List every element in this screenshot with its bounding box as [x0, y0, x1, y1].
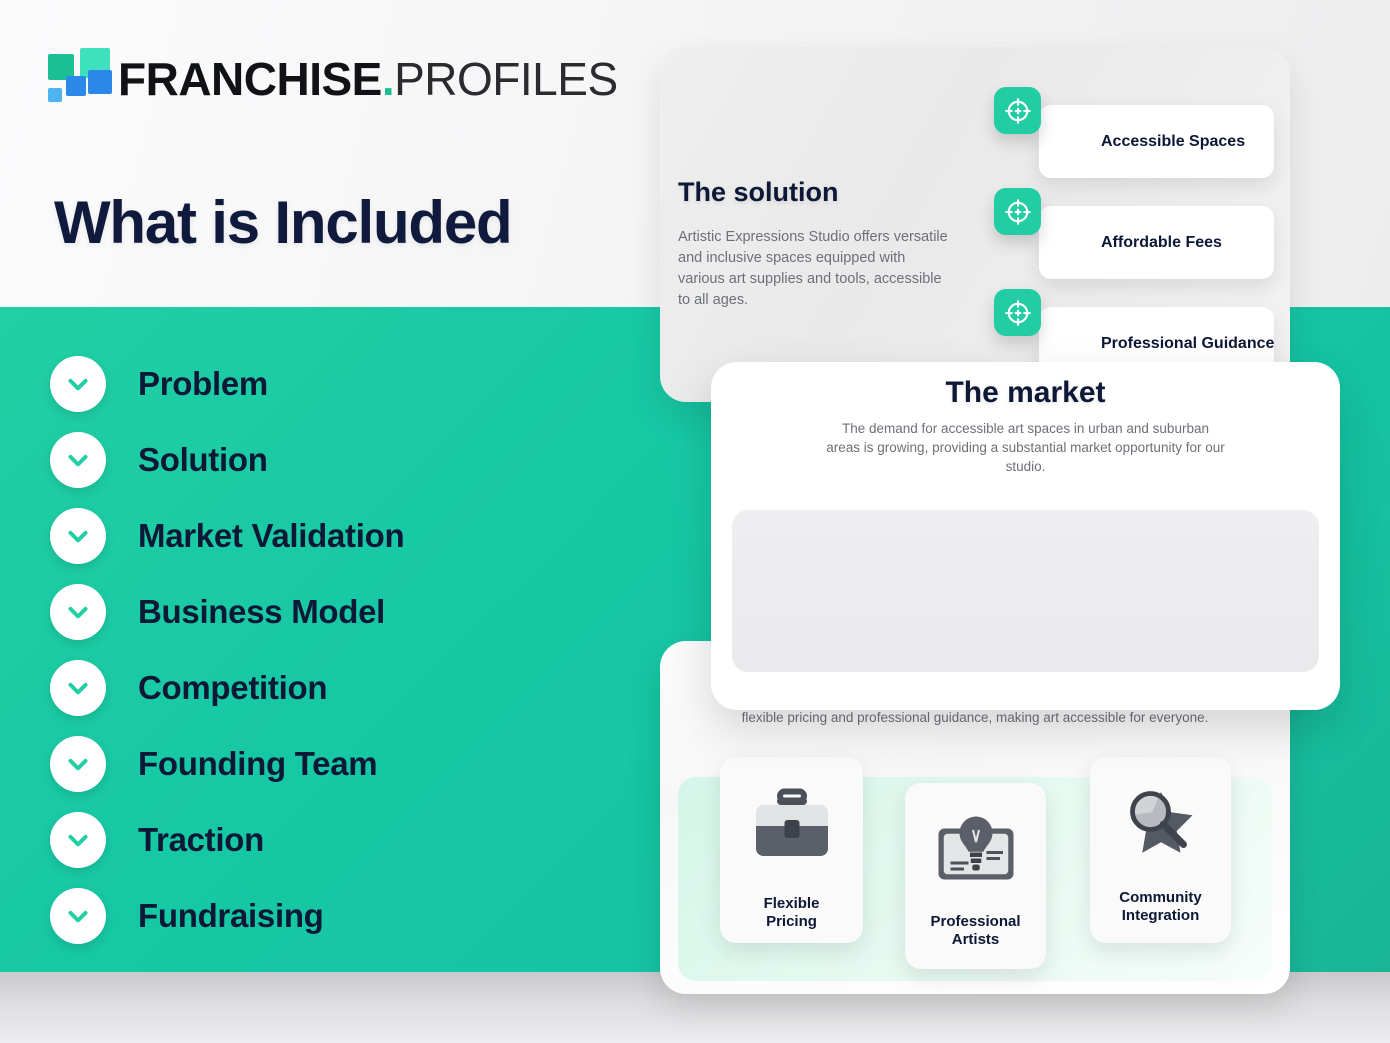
brand-name-light: PROFILES [394, 53, 618, 105]
bottom-card-description: flexible pricing and professional guidan… [660, 708, 1290, 727]
brand-dot: . [382, 53, 394, 105]
market-chart-panel [732, 510, 1319, 672]
feature-pill-professional-artists[interactable]: Professional Artists [905, 783, 1046, 969]
solution-description: Artistic Expressions Studio offers versa… [678, 227, 953, 311]
feature-card: Affordable Fees [1039, 206, 1274, 279]
list-item[interactable]: Market Validation [50, 498, 610, 574]
target-crosshair-icon [994, 289, 1041, 336]
page-title: What is Included [54, 188, 512, 257]
feature-label: Professional Guidance [1101, 335, 1274, 353]
list-item-label: Solution [138, 441, 268, 479]
market-title: The market [711, 376, 1340, 410]
chevron-down-icon [50, 432, 106, 488]
pill-label: Community Integration [1119, 889, 1202, 924]
included-checklist: Problem Solution Market Validation Busin… [50, 346, 610, 954]
chevron-down-icon [50, 584, 106, 640]
chevron-down-icon [50, 888, 106, 944]
chevron-down-icon [50, 660, 106, 716]
feature-pill-community-integration[interactable]: Community Integration [1090, 757, 1231, 943]
briefcase-icon [744, 781, 840, 877]
star-badge-magnifier-icon [1113, 777, 1209, 873]
squares-logo-icon [44, 48, 116, 102]
feature-pill-flexible-pricing[interactable]: Flexible Pricing [720, 757, 863, 943]
list-item[interactable]: Solution [50, 422, 610, 498]
list-item-label: Fundraising [138, 897, 324, 935]
feature-card: Accessible Spaces [1039, 105, 1274, 178]
chevron-down-icon [50, 736, 106, 792]
list-item[interactable]: Competition [50, 650, 610, 726]
feature-label: Affordable Fees [1101, 234, 1222, 252]
feature-label: Accessible Spaces [1101, 133, 1245, 151]
solution-title: The solution [678, 177, 838, 208]
target-crosshair-icon [994, 188, 1041, 235]
list-item[interactable]: Traction [50, 802, 610, 878]
list-item-label: Market Validation [138, 517, 404, 555]
pill-label: Professional Artists [930, 913, 1020, 948]
brand-wordmark: FRANCHISE.PROFILES [118, 46, 618, 112]
brand-logo[interactable]: FRANCHISE.PROFILES [44, 48, 564, 114]
list-item-label: Founding Team [138, 745, 377, 783]
list-item-label: Problem [138, 365, 268, 403]
solution-card: The solution Artistic Expressions Studio… [660, 47, 1290, 402]
list-item[interactable]: Business Model [50, 574, 610, 650]
market-description: The demand for accessible art spaces in … [826, 419, 1226, 476]
brand-name-bold: FRANCHISE [118, 53, 382, 105]
pill-label: Flexible Pricing [764, 895, 820, 930]
lightbulb-board-icon [928, 803, 1024, 899]
chevron-down-icon [50, 508, 106, 564]
list-item[interactable]: Founding Team [50, 726, 610, 802]
chevron-down-icon [50, 812, 106, 868]
list-item-label: Competition [138, 669, 327, 707]
list-item[interactable]: Problem [50, 346, 610, 422]
target-crosshair-icon [994, 87, 1041, 134]
market-card: The market The demand for accessible art… [711, 362, 1340, 710]
chevron-down-icon [50, 356, 106, 412]
list-item-label: Business Model [138, 593, 385, 631]
list-item[interactable]: Fundraising [50, 878, 610, 954]
list-item-label: Traction [138, 821, 264, 859]
